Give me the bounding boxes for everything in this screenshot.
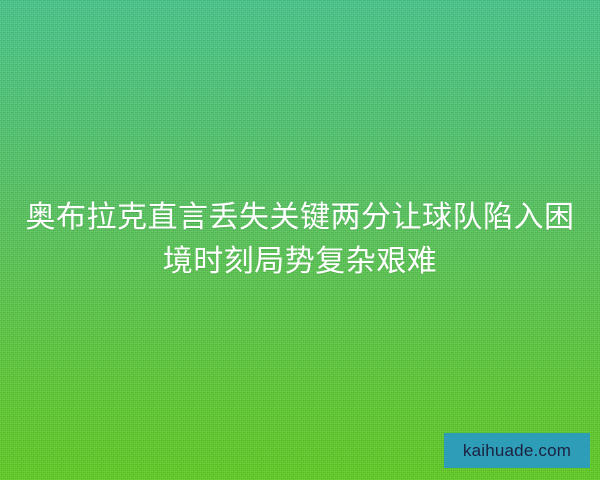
page-title: 奥布拉克直言丢失关键两分让球队陷入困 境时刻局势复杂艰难 [0, 196, 600, 284]
headline-card: 奥布拉克直言丢失关键两分让球队陷入困 境时刻局势复杂艰难 kaihuade.co… [0, 0, 600, 480]
watermark-badge[interactable]: kaihuade.com [444, 433, 590, 468]
watermark-label: kaihuade.com [463, 442, 571, 459]
